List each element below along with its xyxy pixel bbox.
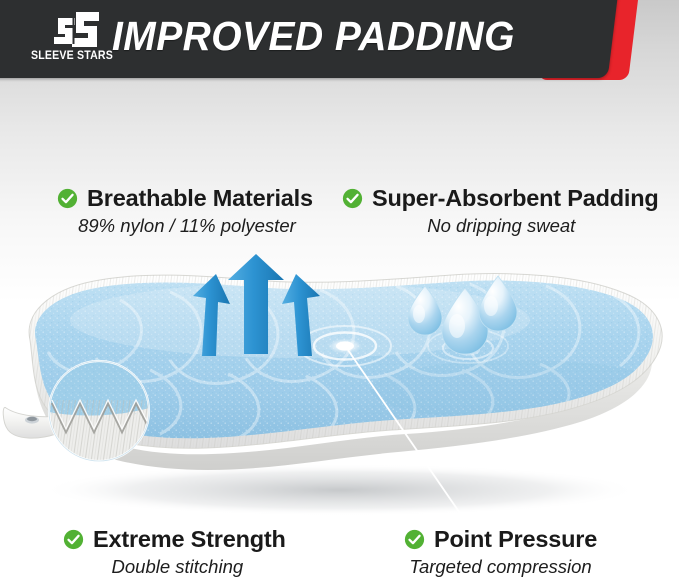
feature-callout-pressure: Point Pressure Targeted compression: [404, 527, 597, 577]
feature-title: Super-Absorbent Padding: [372, 186, 659, 211]
green-check-circle-icon: [404, 529, 425, 550]
page-title: IMPROVED PADDING: [112, 13, 515, 60]
product-illustration: [0, 240, 679, 515]
water-droplets-icon: [402, 272, 520, 358]
feature-title: Extreme Strength: [93, 527, 286, 552]
green-check-circle-icon: [342, 188, 363, 209]
brand-name: SLEEVE STARS: [30, 50, 115, 62]
stitching-magnifier-icon: [49, 361, 150, 462]
feature-callout-absorbent: Super-Absorbent Padding No dripping swea…: [342, 186, 659, 236]
infographic-canvas: SLEEVE STARS IMPROVED PADDING: [0, 0, 679, 582]
brand-logo: SLEEVE STARS: [26, 11, 118, 69]
feature-heading-row: Breathable Materials: [57, 186, 313, 211]
sleeve-stars-s-monogram-icon: [48, 11, 100, 49]
green-check-circle-icon: [57, 188, 78, 209]
header-bar: SLEEVE STARS IMPROVED PADDING: [0, 0, 679, 84]
feature-subtitle: 89% nylon / 11% polyester: [57, 215, 313, 236]
product-art-svg: [0, 240, 679, 515]
feature-subtitle: Double stitching: [63, 556, 286, 577]
feature-title: Point Pressure: [434, 527, 597, 552]
feature-callout-strength: Extreme Strength Double stitching: [63, 527, 286, 577]
feature-heading-row: Point Pressure: [404, 527, 597, 552]
feature-title: Breathable Materials: [87, 186, 313, 211]
upward-airflow-arrows-icon: [186, 252, 330, 360]
product-shadow: [40, 464, 640, 515]
feature-subtitle: No dripping sweat: [342, 215, 659, 236]
feature-heading-row: Extreme Strength: [63, 527, 286, 552]
feature-subtitle: Targeted compression: [404, 556, 597, 577]
green-check-circle-icon: [63, 529, 84, 550]
feature-heading-row: Super-Absorbent Padding: [342, 186, 659, 211]
feature-callout-breathable: Breathable Materials 89% nylon / 11% pol…: [57, 186, 313, 236]
